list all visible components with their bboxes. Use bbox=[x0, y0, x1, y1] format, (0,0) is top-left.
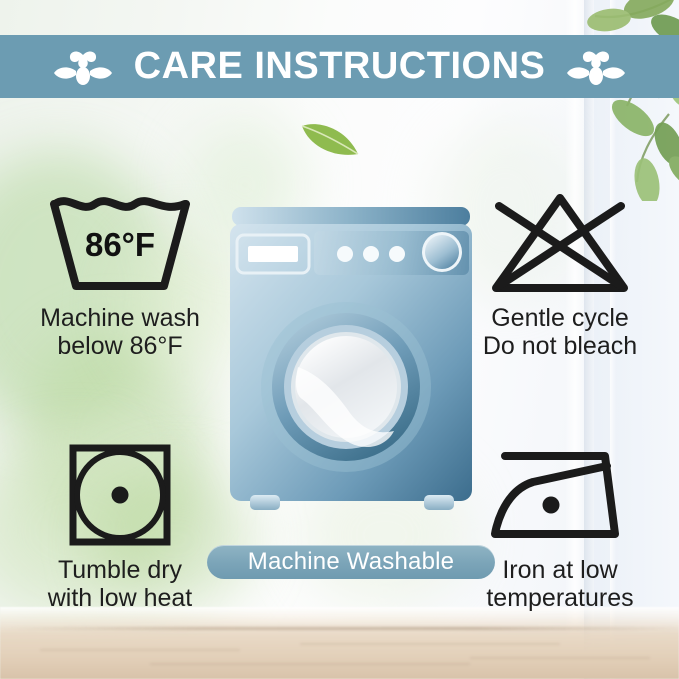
wooden-surface bbox=[0, 607, 679, 679]
machine-washable-badge: Machine Washable bbox=[207, 545, 495, 579]
drawer-display bbox=[248, 246, 298, 262]
care-instructions-banner: CARE INSTRUCTIONS bbox=[0, 35, 679, 98]
control-button bbox=[337, 246, 353, 262]
care-caption: Gentle cycle Do not bleach bbox=[455, 304, 665, 360]
care-caption: Machine wash below 86°F bbox=[15, 304, 225, 360]
machine-washable-label: Machine Washable bbox=[248, 548, 454, 576]
care-item-iron-low-temp: Iron at low temperatures bbox=[455, 440, 665, 612]
tumble-dry-low-icon bbox=[15, 440, 225, 550]
triangle-crossed-out-icon bbox=[455, 188, 665, 298]
machine-foot bbox=[424, 495, 454, 510]
plant-sprig-icon bbox=[499, 0, 679, 201]
machine-foot bbox=[250, 495, 280, 510]
program-dial bbox=[425, 235, 459, 269]
machine-lid bbox=[232, 207, 470, 226]
care-caption: Tumble dry with low heat bbox=[15, 556, 225, 612]
wash-tub-icon: 86°F bbox=[15, 188, 225, 298]
floating-leaf-icon bbox=[298, 116, 362, 160]
heat-level-dot bbox=[112, 487, 129, 504]
care-item-tumble-dry-low: Tumble dry with low heat bbox=[15, 440, 225, 612]
care-item-gentle-cycle-no-bleach: Gentle cycle Do not bleach bbox=[455, 188, 665, 360]
care-item-machine-wash: 86°F Machine wash below 86°F bbox=[15, 188, 225, 360]
iron-low-heat-icon bbox=[455, 440, 665, 550]
page-title: CARE INSTRUCTIONS bbox=[134, 45, 546, 88]
heat-level-dot bbox=[543, 497, 560, 514]
fleur-de-lis-icon bbox=[567, 47, 625, 87]
control-button bbox=[389, 246, 405, 262]
wash-temperature-value: 86°F bbox=[85, 226, 155, 263]
control-button bbox=[363, 246, 379, 262]
fleur-de-lis-icon bbox=[54, 47, 112, 87]
washing-machine-illustration bbox=[228, 207, 474, 525]
